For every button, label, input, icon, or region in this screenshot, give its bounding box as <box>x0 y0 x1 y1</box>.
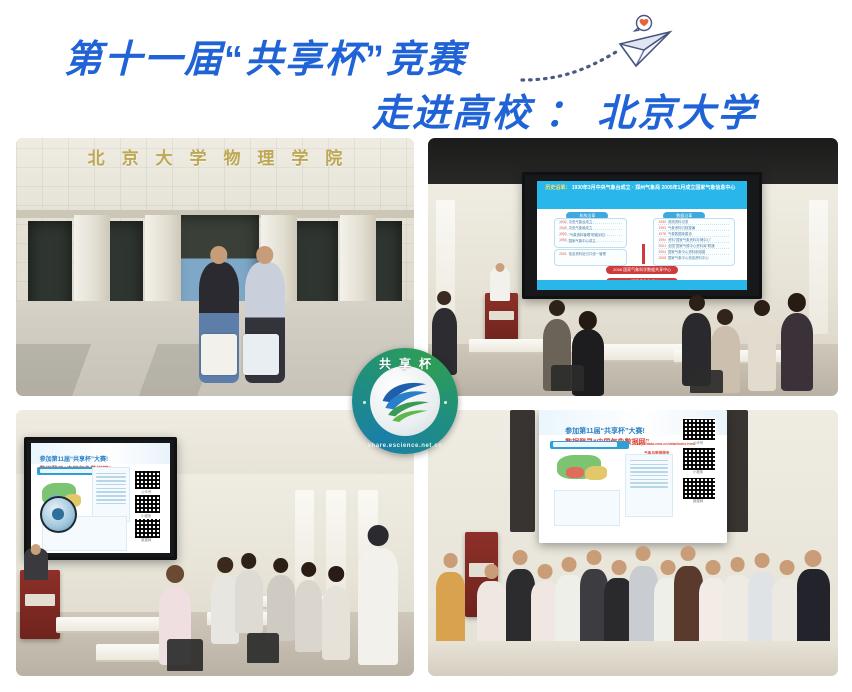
stage-front <box>428 641 838 676</box>
inscription-char: 京 <box>122 144 139 169</box>
wall-panel <box>809 200 827 334</box>
slide-row: 2001全国"国家气候中心资料库"联通 <box>658 244 728 249</box>
photo-top-right[interactable]: 历史沿革： 1930年3月中央气象台成立 · 郑州气象局 2005年1月成立国家… <box>428 138 838 396</box>
gate-inscription: 北 京 大 学 物 理 学 院 <box>88 143 343 169</box>
qr-label: 数据网 <box>134 537 159 542</box>
poster-text-lines <box>96 473 126 507</box>
wall-panel-dark <box>510 410 535 532</box>
slide-row: 1953"气象资料管理"职能划归 <box>559 233 622 236</box>
qr-code <box>134 494 161 515</box>
poster-header: 第十一届“共享杯”竞赛 走进高校 ： 北京大学 <box>0 0 852 130</box>
inscription-char: 物 <box>223 144 240 169</box>
poster-text-lines <box>630 460 668 490</box>
tote-bag <box>243 334 279 375</box>
slide-row: 1994国家气象中心成立 <box>559 239 622 242</box>
audience-figure <box>267 575 295 642</box>
inscription-char: 学 <box>189 144 206 169</box>
shared-cup-logo: 共享杯 share.escience.net.cn <box>352 348 458 454</box>
slide-left-box: 1930中央气象台成立 1949中央气象局成立 1953"气象资料管理"职能划归… <box>554 218 628 248</box>
page-title-line-1: 第十一届“共享杯”竞赛 <box>64 28 466 83</box>
logo-bottom-text: share.escience.net.cn <box>352 443 458 449</box>
tote-bag <box>201 334 237 375</box>
poster-column <box>92 467 130 522</box>
slide-right-box: 1930观测资料记录 1953气象资料归档整编 1978气象数据库建设 1994… <box>653 218 735 266</box>
slide-row: 1949中央气象局成立 <box>559 227 622 230</box>
slide-row: 1930中央气象台成立 <box>559 220 622 223</box>
poster-slide: 参加第11届“共享杯”大赛! 数据登录“中国气象数据网” http://data… <box>539 410 728 543</box>
presentation-slide: 历史沿革： 1930年3月中央气象台成立 · 郑州气象局 2005年1月成立国家… <box>537 181 747 290</box>
poster-slide: 参加第11届“共享杯”大赛! 数据登录“中国气象数据网” <box>31 443 169 553</box>
slide-title-text: 1930年3月中央气象台成立 · 郑州气象局 2005年1月成立国家气象信息中心 <box>572 185 736 191</box>
title-suffix: 竞赛 <box>386 39 466 81</box>
podium <box>485 293 518 345</box>
slide-footer-band <box>537 280 747 290</box>
qr-code <box>134 518 161 539</box>
poster-root: 第十一届“共享杯”竞赛 走进高校 ： 北京大学 <box>0 0 852 692</box>
slide-pill-mid: 2008 国家气象科学数据共享中心 <box>606 266 678 275</box>
presentation-slide: 参加第11届“共享杯”大赛! 数据登录“中国气象数据网” http://data… <box>539 410 728 543</box>
projection-screen: 历史沿革： 1930年3月中央气象台成立 · 郑州气象局 2005年1月成立国家… <box>522 172 762 299</box>
poster-headline-line1: 参加第11届“共享杯”大赛! <box>565 426 697 437</box>
slide-row: 1994资料"国家气象资料存储中心" <box>658 238 728 243</box>
audience-figure <box>295 580 323 652</box>
presentation-slide: 参加第11届“共享杯”大赛! 数据登录“中国气象数据网” <box>31 443 169 553</box>
qr-code <box>682 447 716 470</box>
slide-connector <box>642 244 645 264</box>
logo-swoosh-icon <box>370 366 440 436</box>
qr-label: 公众号 <box>682 440 714 445</box>
speaker-figure <box>490 267 511 301</box>
title-quoted: 共享杯 <box>245 39 365 81</box>
inscription-char: 院 <box>325 144 342 169</box>
desk <box>56 617 167 632</box>
heart-badge-icon <box>635 16 652 32</box>
slide-row: 1978气象数据库建设 <box>658 232 728 237</box>
chair <box>247 633 279 662</box>
china-map-graphic <box>554 451 614 486</box>
inscription-char: 大 <box>156 144 173 169</box>
projection-screen: 参加第11届“共享杯”大赛! 数据登录“中国气象数据网” <box>24 437 177 560</box>
page-title-line-2: 走进高校 ： 北京大学 <box>372 82 757 137</box>
projection-screen: 参加第11届“共享杯”大赛! 数据登录“中国气象数据网” http://data… <box>539 410 728 543</box>
qr-code <box>682 418 716 441</box>
slide-row: 2004国家气象中心资料部组建 <box>658 250 728 255</box>
title-prefix: 第十一届 <box>64 39 224 81</box>
slide-row: 1953气象资料归档整编 <box>658 226 728 231</box>
standing-figure <box>358 548 398 665</box>
slide-row: 2001信息资料处归口统一管理 <box>559 253 622 254</box>
qr-code <box>134 470 161 491</box>
quote-close: ” <box>365 39 386 81</box>
poster-bottom-strip <box>554 490 620 527</box>
slide-left-extra-box: 2001信息资料处归口统一管理 <box>554 249 628 265</box>
chair <box>690 370 723 393</box>
inscription-char: 学 <box>291 144 308 169</box>
qr-label: 小程序 <box>682 469 714 474</box>
slide-row: 1930观测资料记录 <box>658 220 728 225</box>
chair <box>551 365 584 391</box>
audience-figure <box>781 313 814 390</box>
poster-column <box>625 454 672 517</box>
logo-dot <box>363 401 366 404</box>
chair <box>167 639 203 671</box>
slide-title: 历史沿革： 1930年3月中央气象台成立 · 郑州气象局 2005年1月成立国家… <box>545 185 739 193</box>
paper-plane-icon <box>520 14 690 86</box>
audience-figure <box>322 586 350 660</box>
speaker-figure <box>24 548 48 580</box>
inscription-char: 北 <box>88 144 105 169</box>
poster-headline-line1: 参加第11届“共享杯”大赛! <box>40 456 137 466</box>
compass-graphic <box>40 496 77 533</box>
slide-row: 2005国家气象中心信息资料中心 <box>658 256 728 260</box>
quote-open: “ <box>224 39 245 81</box>
inscription-char: 理 <box>257 144 274 169</box>
qr-code <box>682 477 716 500</box>
photo-bottom-right[interactable]: 参加第11届“共享杯”大赛! 数据登录“中国气象数据网” http://data… <box>428 410 838 676</box>
poster-search-bar <box>550 441 629 449</box>
audience-figure <box>235 570 263 634</box>
slide-title-tag: 历史沿革： <box>545 185 570 191</box>
audience-figure <box>748 319 777 391</box>
qr-label: 数据网 <box>682 498 714 503</box>
logo-top-text: 共享杯 <box>352 355 458 372</box>
